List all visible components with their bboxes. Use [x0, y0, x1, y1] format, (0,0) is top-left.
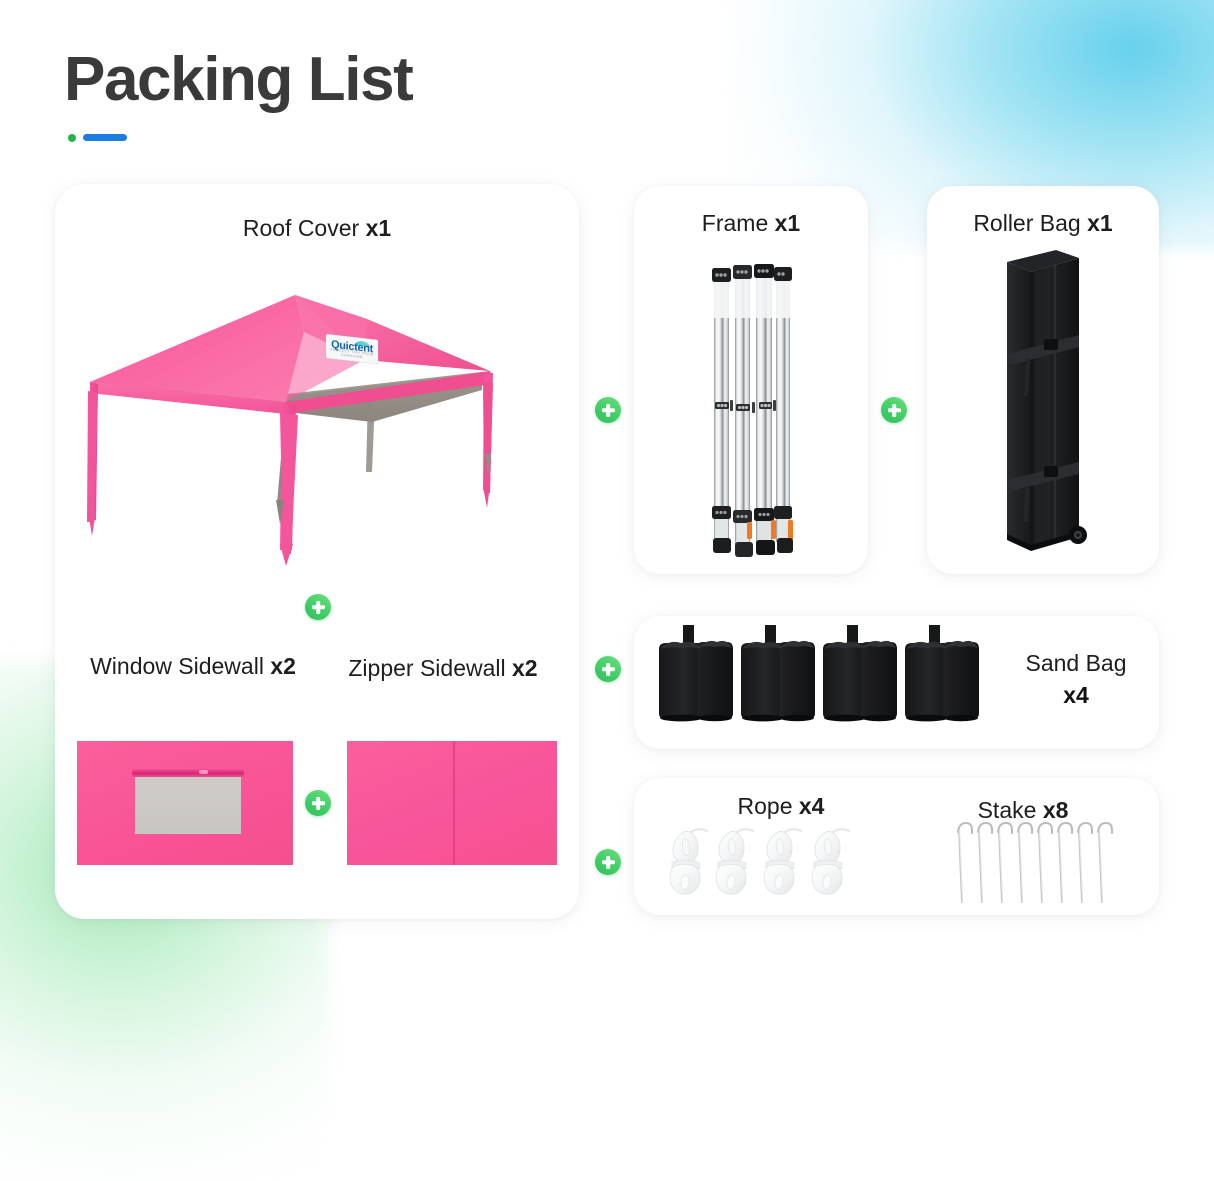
label-zipper-sidewall: Zipper Sidewall x2	[323, 655, 563, 682]
label-rope: Rope x4	[670, 793, 892, 820]
window-sidewall-image	[77, 741, 293, 865]
roller-bag-qty: x1	[1087, 210, 1113, 236]
window-zipper-strip	[132, 769, 244, 777]
plus-connector-to-rope-stake	[595, 849, 621, 875]
roof-cover-qty: x1	[366, 215, 392, 241]
frame-image	[702, 258, 802, 562]
zipper-sidewall-name: Zipper Sidewall	[348, 655, 505, 681]
label-window-sidewall: Window Sidewall x2	[73, 653, 313, 680]
header: Packing List	[64, 47, 412, 142]
window-pane	[135, 774, 241, 834]
sand-bag-name: Sand Bag	[1006, 650, 1146, 677]
label-sand-bag: Sand Bag x4	[1006, 650, 1146, 709]
page-title: Packing List	[64, 47, 412, 114]
label-frame: Frame x1	[634, 210, 868, 237]
title-accent-rule	[68, 134, 412, 142]
rope-image	[663, 822, 859, 900]
plus-connector-to-sand-bag	[595, 656, 621, 682]
rope-qty: x4	[799, 793, 825, 819]
frame-name: Frame	[702, 210, 768, 236]
plus-connector-roof-to-sidewalls	[305, 594, 331, 620]
sand-bag-qty: x4	[1006, 682, 1146, 709]
roof-cover-image	[72, 272, 564, 572]
roof-cover-name: Roof Cover	[243, 215, 359, 241]
roller-bag-image	[998, 246, 1088, 556]
accent-bar-icon	[83, 134, 127, 141]
plus-connector-roof-to-frame	[595, 397, 621, 423]
zipper-sidewall-image	[347, 741, 557, 865]
accent-dot-icon	[68, 134, 76, 142]
label-roller-bag: Roller Bag x1	[927, 210, 1159, 237]
window-sidewall-qty: x2	[270, 653, 296, 679]
label-roof-cover: Roof Cover x1	[55, 215, 579, 242]
roller-bag-name: Roller Bag	[973, 210, 1080, 236]
zipper-seam	[453, 741, 455, 865]
sand-bag-image	[655, 625, 1000, 735]
frame-qty: x1	[775, 210, 801, 236]
plus-connector-frame-to-roller-bag	[881, 397, 907, 423]
rope-name: Rope	[738, 793, 793, 819]
window-sidewall-name: Window Sidewall	[90, 653, 264, 679]
plus-connector-between-sidewalls	[305, 790, 331, 816]
stake-image	[955, 820, 1117, 905]
zipper-sidewall-qty: x2	[512, 655, 538, 681]
